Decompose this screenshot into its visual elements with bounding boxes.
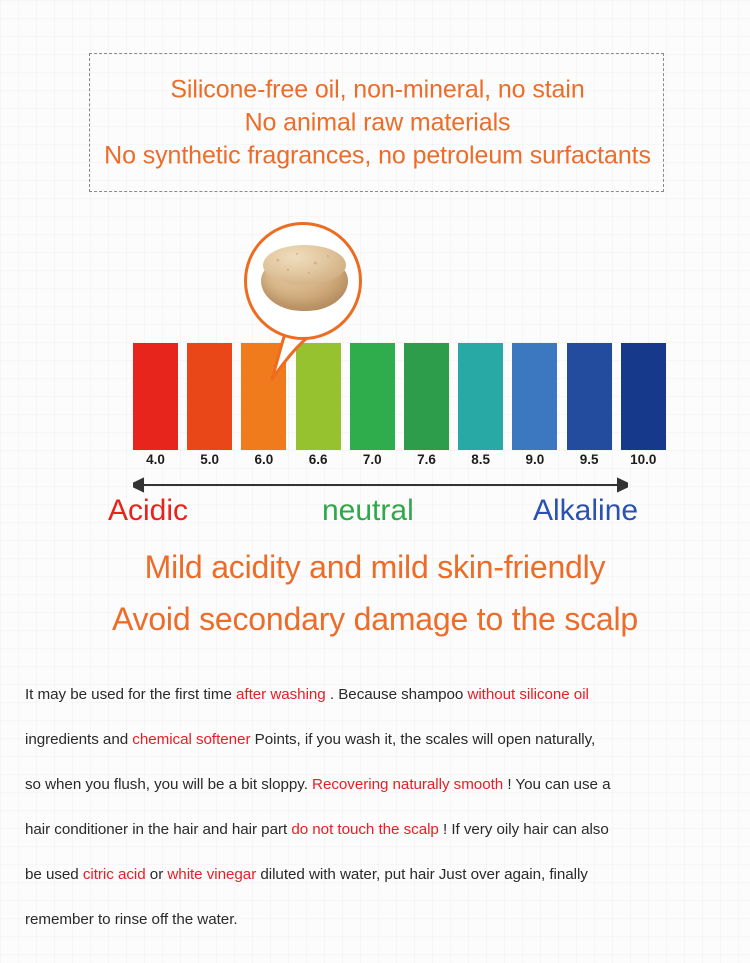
highlighted-phrase: Recovering naturally smooth bbox=[312, 776, 503, 793]
zone-label-neutral: neutral bbox=[322, 492, 414, 530]
body-text: ingredients and bbox=[25, 731, 132, 748]
body-text: diluted with water, put hair Just over a… bbox=[256, 866, 588, 883]
headline-line: Avoid secondary damage to the scalp bbox=[0, 593, 750, 645]
benefit-headline: Mild acidity and mild skin-friendly Avoi… bbox=[0, 541, 750, 645]
ph-tick-label: 5.0 bbox=[183, 452, 236, 467]
body-text: It may be used for the first time bbox=[25, 686, 236, 703]
ph-tick-label: 8.5 bbox=[454, 452, 507, 467]
ph-bar-5.0 bbox=[187, 343, 232, 450]
ph-tick-label: 7.6 bbox=[400, 452, 453, 467]
body-copy-line: It may be used for the first time after … bbox=[25, 672, 725, 717]
ph-scale-bars bbox=[133, 343, 623, 450]
highlighted-phrase: without silicone oil bbox=[467, 686, 588, 703]
body-copy-line: be used citric acid or white vinegar dil… bbox=[25, 852, 725, 897]
ph-tick-label: 10.0 bbox=[617, 452, 670, 467]
highlighted-phrase: white vinegar bbox=[167, 866, 256, 883]
ph-bar-4.0 bbox=[133, 343, 178, 450]
body-text: ! If very oily hair can also bbox=[439, 821, 609, 838]
body-text: so when you flush, you will be a bit slo… bbox=[25, 776, 312, 793]
body-text: be used bbox=[25, 866, 83, 883]
ph-bar-9.0 bbox=[512, 343, 557, 450]
zone-label-acidic: Acidic bbox=[108, 492, 188, 530]
ph-tick-label: 6.0 bbox=[237, 452, 290, 467]
ph-scale-tick-labels: 4.05.06.06.67.07.68.59.09.510.0 bbox=[133, 452, 623, 470]
ph-tick-label: 6.6 bbox=[292, 452, 345, 467]
ph-bar-10.0 bbox=[621, 343, 666, 450]
claim-line: No synthetic fragrances, no petroleum su… bbox=[70, 139, 685, 172]
body-text: remember to rinse off the water. bbox=[25, 911, 238, 928]
body-copy-line: hair conditioner in the hair and hair pa… bbox=[25, 807, 725, 852]
ph-bar-8.5 bbox=[458, 343, 503, 450]
usage-instructions-paragraph: It may be used for the first time after … bbox=[25, 672, 725, 942]
ph-tick-label: 9.0 bbox=[508, 452, 561, 467]
body-text: Points, if you wash it, the scales will … bbox=[250, 731, 595, 748]
soap-bar-callout bbox=[241, 221, 367, 381]
ph-bar-7.6 bbox=[404, 343, 449, 450]
body-text: ! You can use a bbox=[503, 776, 610, 793]
highlighted-phrase: citric acid bbox=[83, 866, 150, 883]
product-claims-box: Silicone-free oil, non-mineral, no stain… bbox=[89, 53, 664, 192]
claim-line: No animal raw materials bbox=[70, 106, 685, 139]
highlighted-phrase: chemical softener bbox=[132, 731, 250, 748]
zone-label-alkaline: Alkaline bbox=[533, 492, 638, 530]
highlighted-phrase: after washing bbox=[236, 686, 326, 703]
ph-tick-label: 9.5 bbox=[563, 452, 616, 467]
body-text: hair conditioner in the hair and hair pa… bbox=[25, 821, 291, 838]
highlighted-phrase: do not touch the scalp bbox=[291, 821, 439, 838]
body-copy-line: so when you flush, you will be a bit slo… bbox=[25, 762, 725, 807]
body-text: or bbox=[150, 866, 168, 883]
ph-tick-label: 7.0 bbox=[346, 452, 399, 467]
soap-bar-icon bbox=[261, 245, 348, 317]
soap-bar-texture bbox=[263, 245, 346, 285]
body-copy-line: ingredients and chemical softener Points… bbox=[25, 717, 725, 762]
ph-tick-label: 4.0 bbox=[129, 452, 182, 467]
body-copy-line: remember to rinse off the water. bbox=[25, 897, 725, 942]
product-claims-list: Silicone-free oil, non-mineral, no stain… bbox=[70, 73, 685, 172]
claim-line: Silicone-free oil, non-mineral, no stain bbox=[70, 73, 685, 106]
body-text: . Because shampoo bbox=[326, 686, 468, 703]
ph-bar-9.5 bbox=[567, 343, 612, 450]
headline-line: Mild acidity and mild skin-friendly bbox=[0, 541, 750, 593]
ph-zone-labels: Acidic neutral Alkaline bbox=[100, 492, 665, 532]
